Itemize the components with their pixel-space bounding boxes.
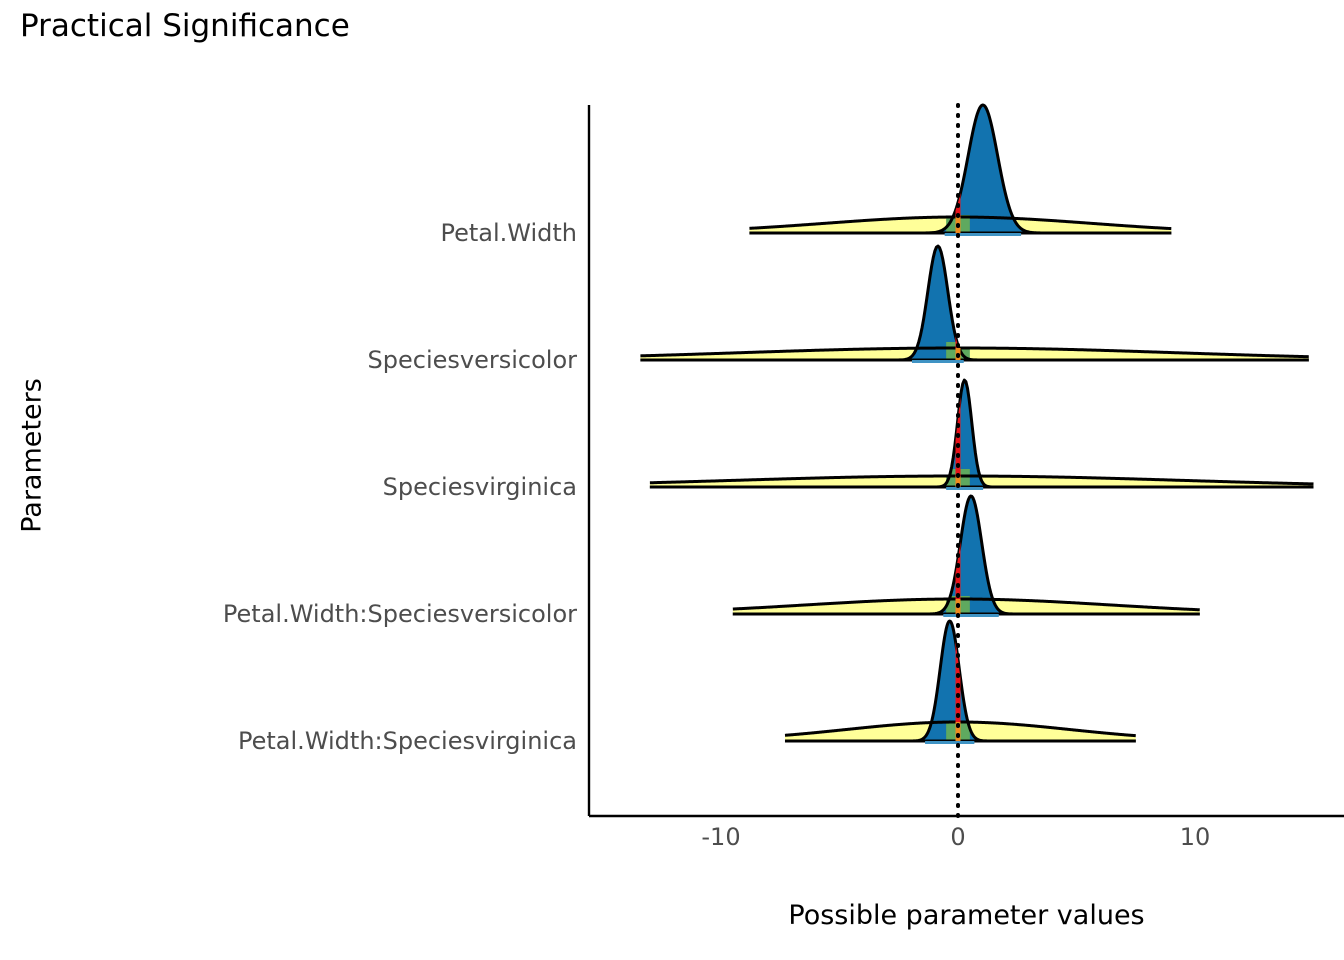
posterior-density-outline [650, 380, 1314, 487]
posterior-density-outline [640, 246, 1308, 360]
posterior-density-fill [640, 246, 1308, 360]
chart-root: Practical Significance Parameters Possib… [0, 0, 1344, 960]
ridgeline-plot-canvas [0, 0, 1344, 960]
ridge-1 [749, 33, 1171, 235]
posterior-density-fill [650, 380, 1314, 487]
ridge-series-group [640, 33, 1313, 743]
ridge-3 [650, 287, 1314, 489]
